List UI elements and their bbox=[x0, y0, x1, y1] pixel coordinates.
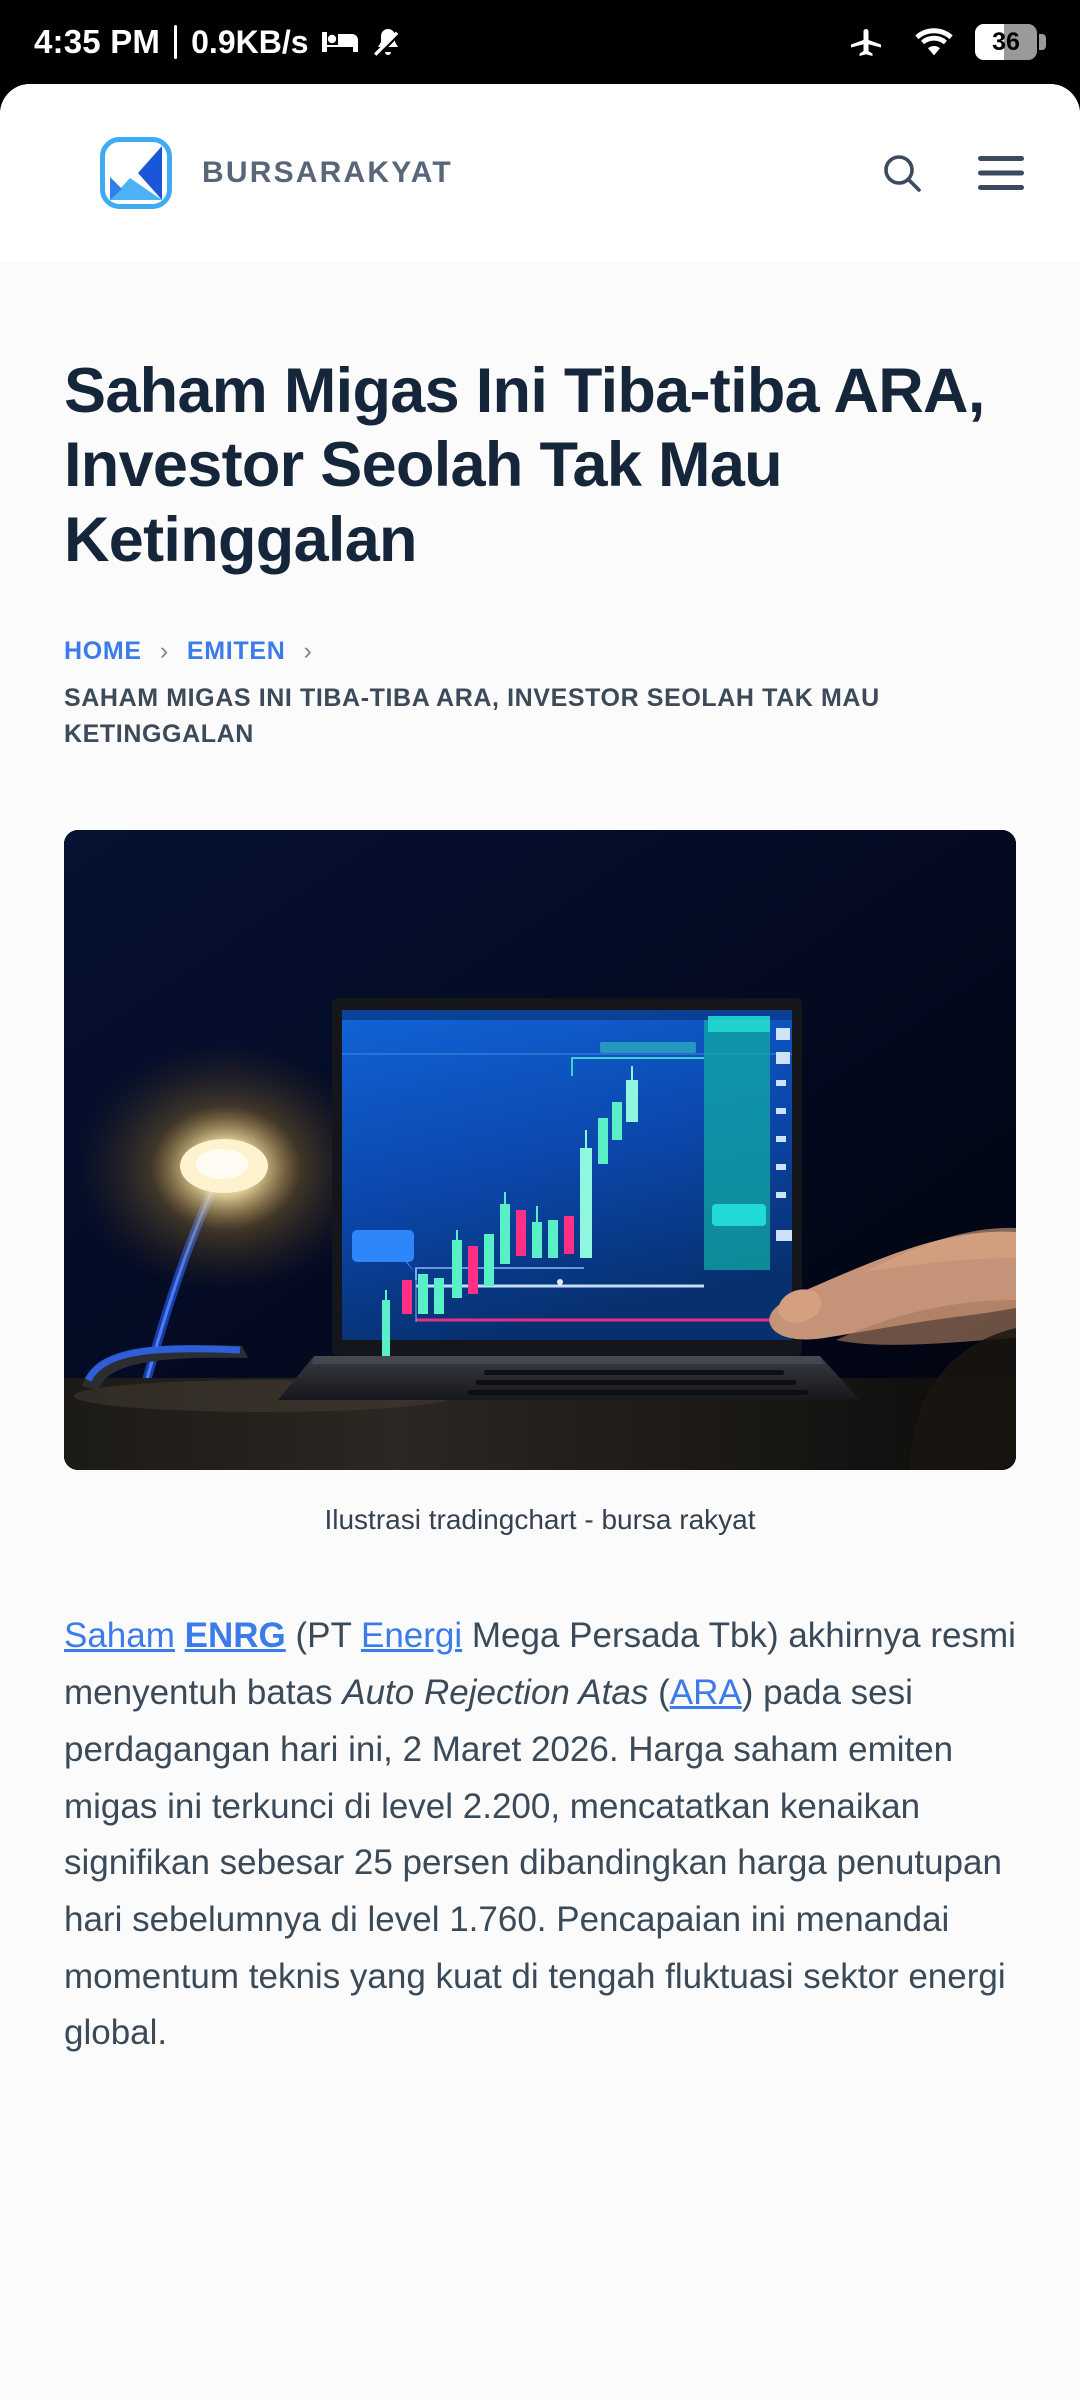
paragraph-text-1: (PT bbox=[286, 1616, 361, 1655]
battery-tip-icon bbox=[1039, 34, 1046, 50]
battery-indicator: 36 bbox=[975, 24, 1046, 60]
brand-link[interactable]: BURSARAKYAT bbox=[100, 137, 453, 209]
status-divider bbox=[174, 25, 177, 59]
article: Saham Migas Ini Tiba-tiba ARA, Investor … bbox=[0, 354, 1080, 2062]
menu-icon[interactable] bbox=[977, 154, 1025, 192]
header-actions bbox=[879, 150, 1025, 196]
wifi-icon bbox=[915, 27, 953, 57]
page-title: Saham Migas Ini Tiba-tiba ARA, Investor … bbox=[64, 354, 1016, 577]
browser-page: BURSARAKYAT bbox=[0, 84, 1080, 2400]
trading-chart-illustration bbox=[64, 830, 1016, 1470]
text-space-1 bbox=[175, 1616, 185, 1655]
hero-caption: Ilustrasi tradingchart - bursa rakyat bbox=[64, 1504, 1016, 1536]
site-header: BURSARAKYAT bbox=[0, 84, 1080, 262]
italic-auto-rejection-atas: Auto Rejection Atas bbox=[342, 1673, 648, 1712]
battery-level: 36 bbox=[992, 28, 1020, 57]
status-bar: 4:35 PM 0.9KB/s bbox=[0, 0, 1080, 84]
airplane-mode-icon bbox=[849, 25, 883, 59]
link-ara[interactable]: ARA bbox=[670, 1673, 742, 1712]
brand-name: BURSARAKYAT bbox=[202, 156, 453, 190]
link-enrg[interactable]: ENRG bbox=[185, 1616, 286, 1655]
breadcrumb: HOME › EMITEN › bbox=[64, 637, 1016, 666]
status-time: 4:35 PM bbox=[34, 23, 160, 61]
breadcrumb-item-home[interactable]: HOME bbox=[64, 637, 142, 666]
chevron-right-icon-2: › bbox=[304, 637, 313, 666]
link-saham[interactable]: Saham bbox=[64, 1616, 175, 1655]
search-icon[interactable] bbox=[879, 150, 925, 196]
breadcrumb-current: SAHAM MIGAS INI TIBA-TIBA ARA, INVESTOR … bbox=[64, 680, 1016, 753]
paragraph-text-3: ( bbox=[648, 1673, 669, 1712]
hero-image-block: Ilustrasi tradingchart - bursa rakyat bbox=[64, 830, 1016, 1536]
status-bar-right: 36 bbox=[839, 24, 1046, 60]
paragraph-text-4: ) pada sesi perdagangan hari ini, 2 Mare… bbox=[64, 1673, 1006, 2052]
bursarakyat-logo-icon bbox=[100, 137, 172, 209]
article-paragraph: Saham ENRG (PT Energi Mega Persada Tbk) … bbox=[64, 1608, 1016, 2062]
link-energi[interactable]: Energi bbox=[361, 1616, 462, 1655]
status-bar-left: 4:35 PM 0.9KB/s bbox=[34, 23, 405, 61]
bed-icon bbox=[319, 26, 361, 58]
bell-muted-icon bbox=[371, 25, 405, 59]
chevron-right-icon: › bbox=[160, 637, 169, 666]
network-speed: 0.9KB/s bbox=[191, 24, 308, 61]
phone-screen: 4:35 PM 0.9KB/s bbox=[0, 0, 1080, 2400]
breadcrumb-item-emiten[interactable]: EMITEN bbox=[187, 637, 286, 666]
